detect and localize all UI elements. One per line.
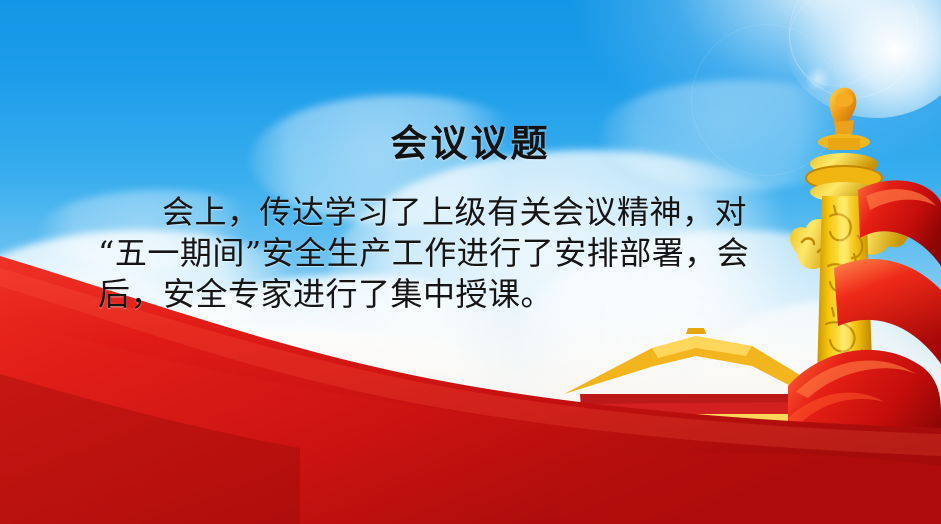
body-text-block: 会上，传达学习了上级有关会议精神，对“五一期间”安全生产工作进行了安排部署，会后… [98, 192, 774, 315]
presentation-slide: 会议议题 会上，传达学习了上级有关会议精神，对“五一期间”安全生产工作进行了安排… [0, 0, 941, 524]
page-title: 会议议题 [0, 113, 941, 167]
body-paragraph: 会上，传达学习了上级有关会议精神，对“五一期间”安全生产工作进行了安排部署，会后… [98, 192, 774, 315]
